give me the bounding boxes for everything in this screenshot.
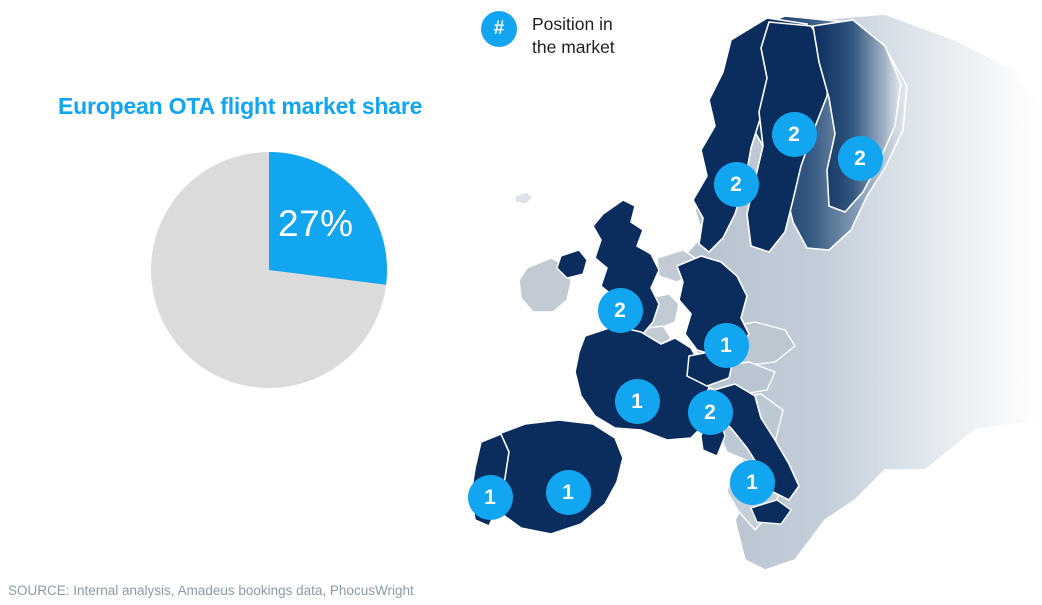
map-marker-france[interactable]: 1 [615,379,660,424]
map-marker-finland[interactable]: 2 [838,136,883,181]
map-marker-value: 1 [746,472,758,493]
map-marker-sweden[interactable]: 2 [772,112,817,157]
map-marker-value: 2 [730,174,742,195]
infographic-canvas: # Position in the market European OTA fl… [0,0,1042,605]
map-marker-value: 2 [704,402,716,423]
map-marker-germany[interactable]: 1 [704,323,749,368]
map-marker-spain[interactable]: 1 [546,470,591,515]
map-marker-value: 2 [614,300,626,321]
map-marker-value: 2 [788,124,800,145]
map-marker-italy[interactable]: 1 [730,460,775,505]
map-marker-value: 1 [631,391,643,412]
map-marker-norway[interactable]: 2 [714,162,759,207]
map-marker-portugal[interactable]: 1 [468,475,513,520]
map-marker-switzerland[interactable]: 2 [688,390,733,435]
map-marker-value: 1 [720,335,732,356]
pie-slice-value-label: 27% [278,203,388,245]
source-note: SOURCE: Internal analysis, Amadeus booki… [8,583,414,598]
map-marker-value: 1 [562,482,574,503]
market-share-pie-chart [151,152,387,388]
map-marker-uk[interactable]: 2 [598,288,643,333]
pie-svg [151,152,387,388]
map-marker-value: 2 [854,148,866,169]
map-marker-value: 1 [484,487,496,508]
page-title: European OTA flight market share [58,93,422,120]
